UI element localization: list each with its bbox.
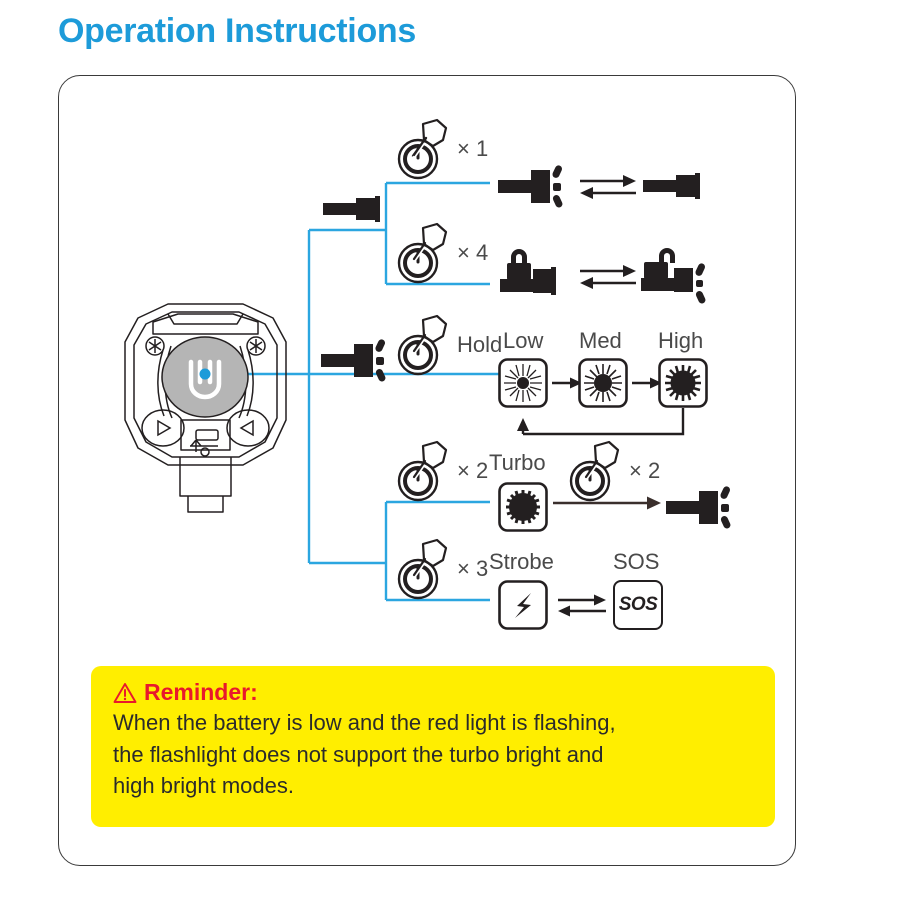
triangle-right-icon <box>241 421 253 435</box>
sos-icon: SOS <box>613 580 663 630</box>
turbo-label: Turbo <box>489 450 546 476</box>
flashlight-off-icon <box>643 173 705 199</box>
flashlight-device <box>108 300 303 515</box>
brightness-label-med: Med <box>579 328 622 354</box>
sos-label: SOS <box>613 549 659 575</box>
press-count-x4: × 4 <box>457 240 488 266</box>
double-arrow-icon <box>578 262 638 290</box>
press-count-x2: × 2 <box>457 458 488 484</box>
screw-left-cross <box>149 339 161 353</box>
sos-badge-text: SOS <box>619 594 658 616</box>
press-power-button-icon <box>393 314 453 376</box>
brightness-label-low: Low <box>503 328 543 354</box>
usb-head <box>196 430 218 440</box>
page-title: Operation Instructions <box>58 12 416 51</box>
brightness-medium-icon <box>578 358 628 408</box>
press-hold-label: Hold <box>457 332 502 358</box>
press-row-x2: × 2 <box>393 440 488 502</box>
press-power-button-icon <box>393 538 453 600</box>
press-row-x2-second: × 2 <box>565 440 660 502</box>
triangle-left-icon <box>158 421 170 435</box>
arrow-right-icon <box>553 494 663 512</box>
press-power-button-icon <box>565 440 625 502</box>
reminder-line-3: high bright modes. <box>113 770 753 801</box>
strobe-label: Strobe <box>489 549 554 575</box>
warning-triangle-icon <box>113 682 137 704</box>
brightness-high-icon <box>658 358 708 408</box>
press-power-button-icon <box>393 222 453 284</box>
reminder-heading: Reminder: <box>144 680 258 705</box>
screw-right-cross <box>250 339 262 353</box>
press-count-x3: × 3 <box>457 556 488 582</box>
press-count-x2-second: × 2 <box>629 458 660 484</box>
flashlight-off-icon <box>323 196 385 222</box>
brightness-label-high: High <box>658 328 703 354</box>
power-button-indicator <box>200 369 211 380</box>
flashlight-on-icon <box>321 334 391 386</box>
brightness-low-icon <box>498 358 548 408</box>
device-stem-tip <box>188 496 223 512</box>
press-power-button-icon <box>393 440 453 502</box>
device-stem <box>180 457 231 496</box>
operation-instructions-page: Operation Instructions <box>0 0 900 900</box>
flashlight-on-icon <box>498 160 568 212</box>
double-arrow-icon <box>556 592 608 618</box>
press-count-x1: × 1 <box>457 136 488 162</box>
press-row-x1: × 1 <box>393 118 488 180</box>
reminder-line-2: the flashlight does not support the turb… <box>113 739 753 770</box>
press-row-x3: × 3 <box>393 538 488 600</box>
flashlight-on-icon <box>666 481 736 533</box>
press-row-hold: Hold <box>393 314 502 376</box>
flashlight-locked-icon <box>500 243 570 295</box>
flashlight-unlocked-icon <box>641 240 721 298</box>
reminder-heading-row: Reminder: <box>113 680 753 705</box>
press-power-button-icon <box>393 118 453 180</box>
double-arrow-icon <box>578 172 638 200</box>
reminder-box: Reminder: When the battery is low and th… <box>91 666 775 827</box>
turbo-icon <box>498 482 548 532</box>
reminder-line-1: When the battery is low and the red ligh… <box>113 707 753 738</box>
device-top-ridge <box>168 314 243 324</box>
strobe-icon <box>498 580 548 630</box>
loop-back-arrow-icon <box>498 404 693 444</box>
press-row-x4: × 4 <box>393 222 488 284</box>
usb-dot <box>201 448 209 456</box>
